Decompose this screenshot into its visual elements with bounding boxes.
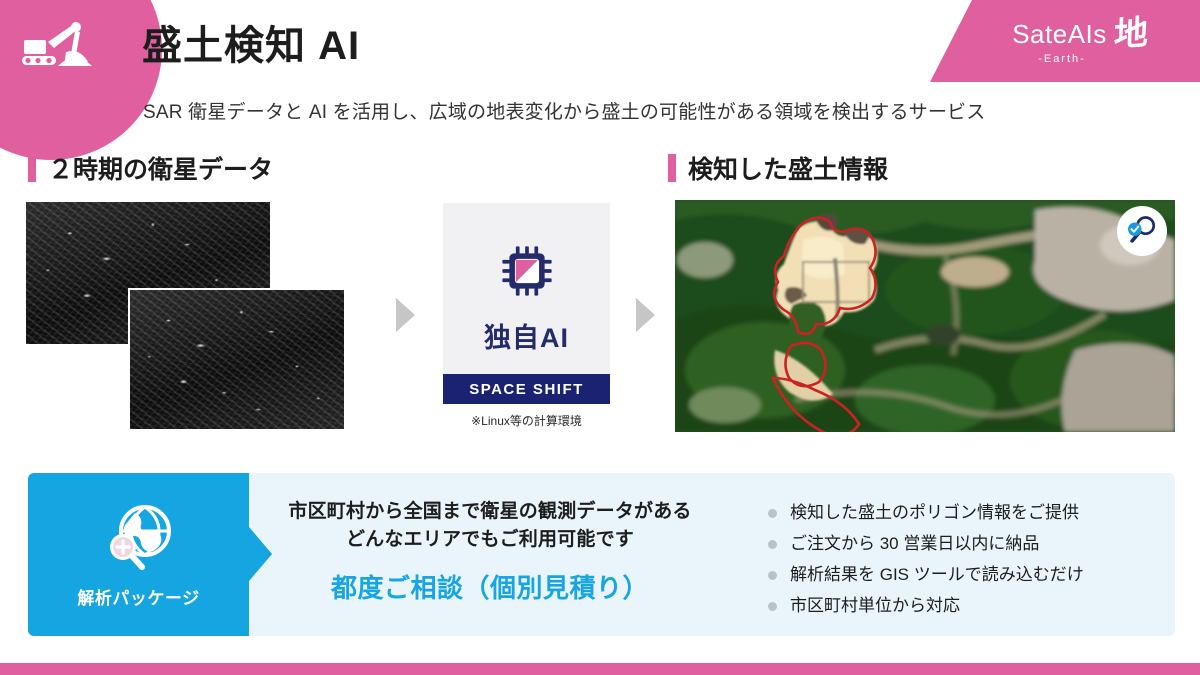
detected-embankment-map (675, 200, 1175, 432)
section-heading-left-label: ２時期の衛星データ (48, 150, 273, 186)
brand-logo-tab: SateAIs 地 -Earth- (930, 0, 1200, 82)
section-heading-left: ２時期の衛星データ (28, 150, 273, 186)
slide-root: SateAIs 地 -Earth- 盛土検知 AI SAR 衛星データと AI … (0, 0, 1200, 675)
bullet-dot-icon (768, 540, 777, 549)
package-description-line-1: 市区町村から全国まで衛星の観測データがある (280, 498, 700, 526)
cpu-chip-icon (501, 245, 553, 302)
bullet-label: ご注文から 30 営業日以内に納品 (790, 533, 1039, 555)
section-heading-right: 検知した盛土情報 (668, 150, 888, 186)
footer-accent-bar (0, 663, 1200, 675)
bullet-label: 解析結果を GIS ツールで読み込むだけ (790, 564, 1084, 586)
bullet-dot-icon (768, 571, 777, 580)
package-price-highlight: 都度ご相談（個別見積り） (280, 568, 700, 605)
section-heading-right-label: 検知した盛土情報 (688, 150, 888, 186)
bullet-label: 市区町村単位から対応 (790, 595, 960, 617)
brand-subtitle: -Earth- (1038, 53, 1086, 65)
page-title: 盛土検知 AI (142, 24, 360, 68)
package-description: 市区町村から全国まで衛星の観測データがある どんなエリアでもご利用可能です 都度… (280, 498, 700, 605)
list-item: 解析結果を GIS ツールで読み込むだけ (768, 564, 1168, 586)
arrow-right-icon (396, 298, 415, 332)
bullet-dot-icon (768, 602, 777, 611)
vendor-name: SPACE SHIFT (469, 381, 584, 398)
vendor-bar: SPACE SHIFT (443, 374, 610, 404)
sar-image-period-2 (128, 288, 346, 431)
bullet-dot-icon (768, 509, 777, 518)
bullet-label: 検知した盛土のポリゴン情報をご提供 (790, 502, 1079, 524)
brand-name: SateAIs (1012, 21, 1107, 47)
list-item: 検知した盛土のポリゴン情報をご提供 (768, 502, 1168, 524)
ai-label: 独自AI (484, 316, 569, 355)
package-arrow-icon (249, 527, 272, 581)
page-subtitle: SAR 衛星データと AI を活用し、広域の地表変化から盛土の可能性がある領域を… (143, 97, 985, 124)
package-description-line-2: どんなエリアでもご利用可能です (280, 526, 700, 554)
heading-accent-bar (668, 154, 676, 182)
heading-accent-bar (28, 154, 36, 182)
analysis-package-label: 解析パッケージ (77, 584, 199, 609)
ai-processing-box: 独自AI SPACE SHIFT (443, 203, 610, 404)
brand-kanji: 地 (1113, 16, 1148, 52)
ai-box-caption: ※Linux等の計算環境 (443, 412, 610, 429)
arrow-right-icon (636, 298, 655, 332)
list-item: 市区町村単位から対応 (768, 595, 1168, 617)
magnifier-check-icon[interactable] (1117, 206, 1167, 256)
list-item: ご注文から 30 営業日以内に納品 (768, 533, 1168, 555)
satellite-map-image (675, 200, 1175, 432)
globe-magnifier-icon (101, 501, 177, 578)
feature-bullet-list: 検知した盛土のポリゴン情報をご提供 ご注文から 30 営業日以内に納品 解析結果… (768, 502, 1168, 626)
excavator-icon (18, 22, 102, 92)
analysis-package-card: 解析パッケージ (28, 473, 249, 636)
